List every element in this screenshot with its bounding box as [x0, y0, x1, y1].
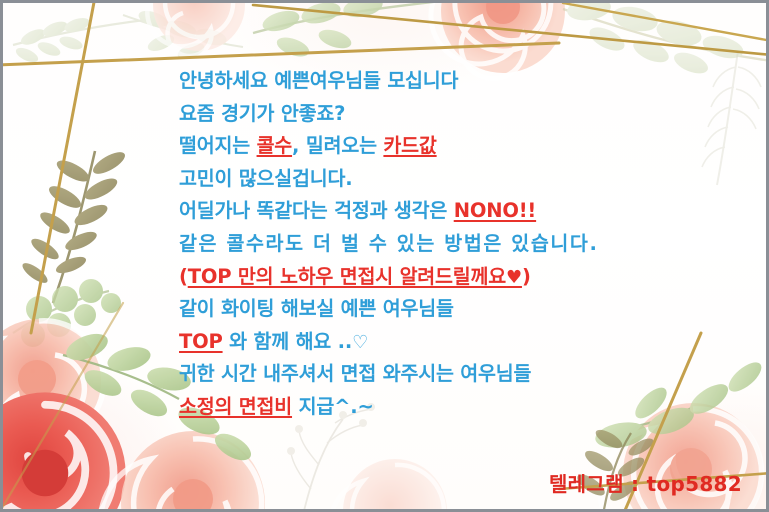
- text-segment: 같은 콜수라도 더 벌 수 있는 방법은 있습니다.: [179, 232, 598, 255]
- text-segment: 안녕하세요 예쁜여우님들 모십니다: [179, 69, 458, 92]
- text-segment: 같이 화이팅 해보실 예쁜 여우님들: [179, 297, 454, 320]
- telegram-contact[interactable]: 텔레그램 : top5882: [549, 468, 742, 497]
- text-segment: 콜수: [257, 134, 292, 157]
- message-line-2: 요즘 경기가 안좋죠?: [179, 98, 739, 131]
- text-segment: , 밀려오는: [292, 134, 383, 157]
- text-segment: ): [522, 265, 531, 288]
- message-line-1: 안녕하세요 예쁜여우님들 모십니다: [179, 65, 739, 98]
- message-line-7: (TOP 만의 노하우 면접시 알려드릴께요♥): [179, 261, 739, 294]
- text-segment: 귀한 시간 내주셔서 면접 와주시는 여우님들: [179, 362, 531, 385]
- message-line-6: 같은 콜수라도 더 벌 수 있는 방법은 있습니다.: [179, 228, 739, 261]
- text-segment: 떨어지는: [179, 134, 257, 157]
- text-segment: 고민이 많으실겁니다.: [179, 167, 352, 190]
- text-segment: 지급^.~: [292, 395, 374, 418]
- text-segment: 요즘 경기가 안좋죠?: [179, 102, 345, 125]
- message-line-11: 소정의 면접비 지급^.~: [179, 391, 739, 424]
- message-line-8: 같이 화이팅 해보실 예쁜 여우님들: [179, 293, 739, 326]
- text-segment: TOP: [179, 330, 223, 353]
- text-segment: ♡: [352, 332, 368, 353]
- message-text-block: 안녕하세요 예쁜여우님들 모십니다 요즘 경기가 안좋죠? 떨어지는 콜수, 밀…: [179, 65, 739, 424]
- text-segment: 어딜가나 똑같다는 걱정과 생각은: [179, 199, 454, 222]
- flyer-canvas: 안녕하세요 예쁜여우님들 모십니다 요즘 경기가 안좋죠? 떨어지는 콜수, 밀…: [0, 0, 769, 512]
- text-segment: 와 함께 해요 ..: [223, 330, 352, 353]
- text-segment: NONO!!: [454, 199, 536, 222]
- text-segment: TOP 만의 노하우 면접시 알려드릴께요: [188, 265, 506, 288]
- text-segment: (: [179, 265, 188, 288]
- message-line-9: TOP 와 함께 해요 ..♡: [179, 326, 739, 359]
- message-line-5: 어딜가나 똑같다는 걱정과 생각은 NONO!!: [179, 195, 739, 228]
- message-line-3: 떨어지는 콜수, 밀려오는 카드값: [179, 130, 739, 163]
- text-segment: 카드값: [383, 134, 436, 157]
- message-line-10: 귀한 시간 내주셔서 면접 와주시는 여우님들: [179, 358, 739, 391]
- message-line-4: 고민이 많으실겁니다.: [179, 163, 739, 196]
- text-segment: ♥: [506, 267, 522, 288]
- text-segment: 소정의 면접비: [179, 395, 292, 418]
